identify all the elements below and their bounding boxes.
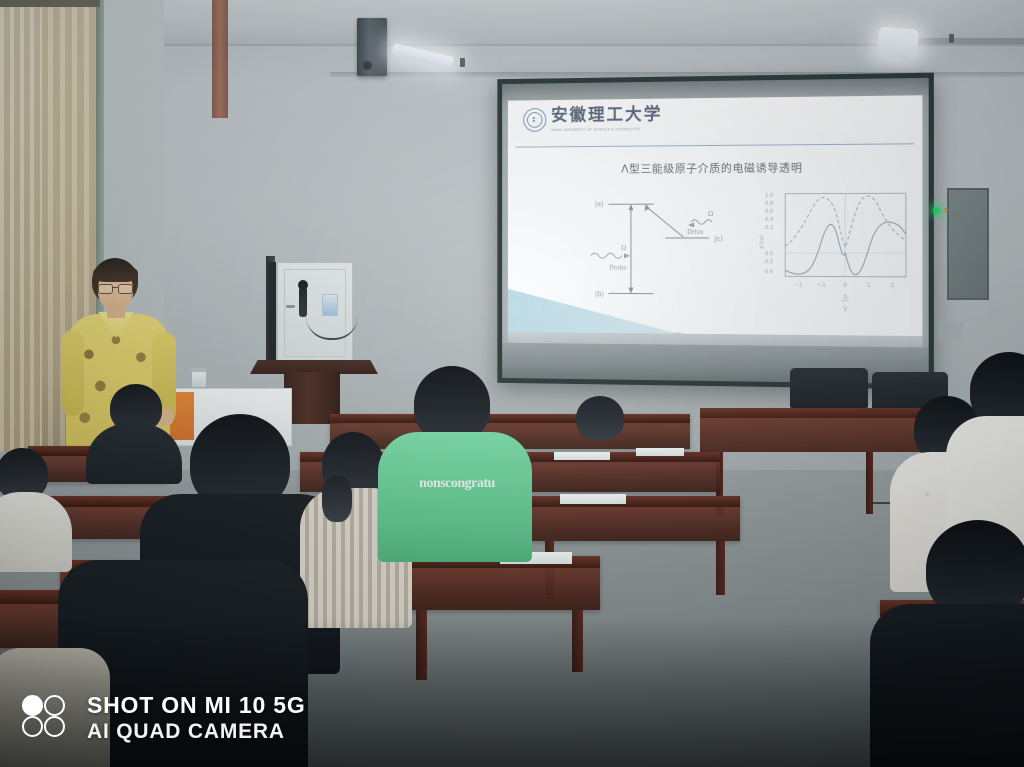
door-sign bbox=[322, 294, 338, 316]
slide-header: 安徽理工大学 ANHUI UNIVERSITY OF SCIENCE & TEC… bbox=[508, 95, 923, 146]
svg-text:−2: −2 bbox=[794, 282, 802, 288]
lambda-three-level-diagram: |a⟩ |c⟩ |b⟩ Ω Probe Ω Drive bbox=[585, 194, 733, 304]
window-curtain-inner bbox=[0, 0, 42, 452]
desk-paper bbox=[554, 452, 610, 460]
wall-sensor-right-icon bbox=[949, 34, 954, 43]
back-chair bbox=[790, 368, 868, 408]
svg-text:Probe: Probe bbox=[609, 266, 627, 272]
cup-lid bbox=[191, 368, 207, 372]
slide-title: Λ型三能级原子介质的电磁诱导透明 bbox=[508, 159, 923, 178]
svg-text:0.4: 0.4 bbox=[765, 217, 773, 223]
wall-pillar bbox=[212, 0, 228, 118]
desk-paper bbox=[636, 448, 684, 456]
desk-paper bbox=[560, 494, 626, 504]
audience-member-green-shirt: nonscongratu bbox=[380, 366, 530, 556]
university-logo: 安徽理工大学 ANHUI UNIVERSITY OF SCIENCE & TEC… bbox=[523, 107, 662, 132]
presenter-fringe bbox=[93, 264, 138, 282]
svg-text:χ'(ω): χ'(ω) bbox=[758, 235, 765, 249]
svg-text:1: 1 bbox=[867, 283, 871, 289]
curtain-rod bbox=[0, 0, 100, 7]
svg-text:-0.2: -0.2 bbox=[763, 259, 773, 265]
audience-member bbox=[576, 396, 624, 442]
wall-speaker bbox=[357, 18, 387, 76]
camera-watermark: SHOT ON MI 10 5G AI QUAD CAMERA bbox=[22, 693, 306, 743]
gooseneck-microphone[interactable] bbox=[299, 287, 307, 317]
photo-scene: 安徽理工大学 ANHUI UNIVERSITY OF SCIENCE & TEC… bbox=[0, 0, 1024, 767]
side-door[interactable] bbox=[277, 262, 353, 364]
svg-text:−1: −1 bbox=[818, 282, 826, 288]
cup bbox=[192, 370, 206, 387]
status-led-icon bbox=[944, 208, 948, 213]
bench-leg bbox=[572, 610, 583, 672]
ceiling-light-rail bbox=[900, 38, 1024, 44]
svg-text:2: 2 bbox=[891, 283, 895, 289]
chart-svg: 1.0 0.8 0.6 0.4 0.2 0.0 -0.2 -0.4 χ'(ω) bbox=[755, 189, 918, 313]
svg-text:1.0: 1.0 bbox=[765, 193, 773, 199]
wall-plate bbox=[938, 322, 964, 340]
university-name-cn: 安徽理工大学 bbox=[551, 107, 662, 125]
svg-text:0.0: 0.0 bbox=[765, 251, 773, 257]
svg-text:Δ: Δ bbox=[843, 295, 848, 301]
svg-text:Ω: Ω bbox=[708, 210, 713, 218]
head bbox=[414, 366, 490, 442]
svg-text:0.2: 0.2 bbox=[765, 225, 773, 231]
torso bbox=[870, 604, 1024, 767]
torso bbox=[378, 432, 532, 562]
svg-text:-0.4: -0.4 bbox=[763, 269, 773, 275]
wall-sensor-icon bbox=[460, 58, 465, 67]
presentation-slide: 安徽理工大学 ANHUI UNIVERSITY OF SCIENCE & TEC… bbox=[508, 95, 923, 350]
susceptibility-chart: 1.0 0.8 0.6 0.4 0.2 0.0 -0.2 -0.4 χ'(ω) bbox=[755, 189, 918, 313]
bench-leg bbox=[416, 610, 427, 680]
screen-surface: 安徽理工大学 ANHUI UNIVERSITY OF SCIENCE & TEC… bbox=[502, 78, 929, 384]
audience-member bbox=[890, 520, 1024, 767]
power-led-icon bbox=[933, 207, 940, 214]
presenter-left-arm bbox=[62, 330, 84, 416]
svg-text:Ω: Ω bbox=[621, 244, 626, 252]
svg-text:|a⟩: |a⟩ bbox=[595, 200, 604, 208]
quad-camera-icon bbox=[22, 695, 74, 741]
watermark-line-2: AI QUAD CAMERA bbox=[87, 720, 306, 743]
ceiling-tube-light-right bbox=[877, 26, 919, 59]
university-name-en: ANHUI UNIVERSITY OF SCIENCE & TECHNOLOGY bbox=[551, 126, 662, 132]
svg-text:|b⟩: |b⟩ bbox=[595, 290, 605, 298]
svg-text:0: 0 bbox=[843, 283, 847, 289]
eyeglasses-icon bbox=[98, 284, 133, 292]
ponytail bbox=[322, 476, 352, 522]
svg-text:γ: γ bbox=[843, 306, 847, 312]
lectern-post bbox=[268, 262, 276, 362]
svg-text:Drive: Drive bbox=[687, 230, 704, 236]
watermark-line-1: SHOT ON MI 10 5G bbox=[87, 693, 306, 718]
energy-diagram-svg: |a⟩ |c⟩ |b⟩ Ω Probe Ω Drive bbox=[585, 194, 733, 304]
head bbox=[576, 396, 624, 440]
shirt-text: nonscongratu bbox=[392, 476, 522, 492]
svg-text:0.6: 0.6 bbox=[765, 209, 773, 215]
bench-leg bbox=[716, 541, 725, 595]
svg-text:|c⟩: |c⟩ bbox=[714, 235, 723, 243]
university-seal-icon bbox=[523, 108, 546, 132]
projection-screen[interactable]: 安徽理工大学 ANHUI UNIVERSITY OF SCIENCE & TEC… bbox=[497, 73, 934, 390]
door-handle[interactable] bbox=[286, 305, 295, 308]
svg-text:0.8: 0.8 bbox=[765, 201, 773, 207]
wall-control-panel[interactable] bbox=[947, 188, 989, 300]
